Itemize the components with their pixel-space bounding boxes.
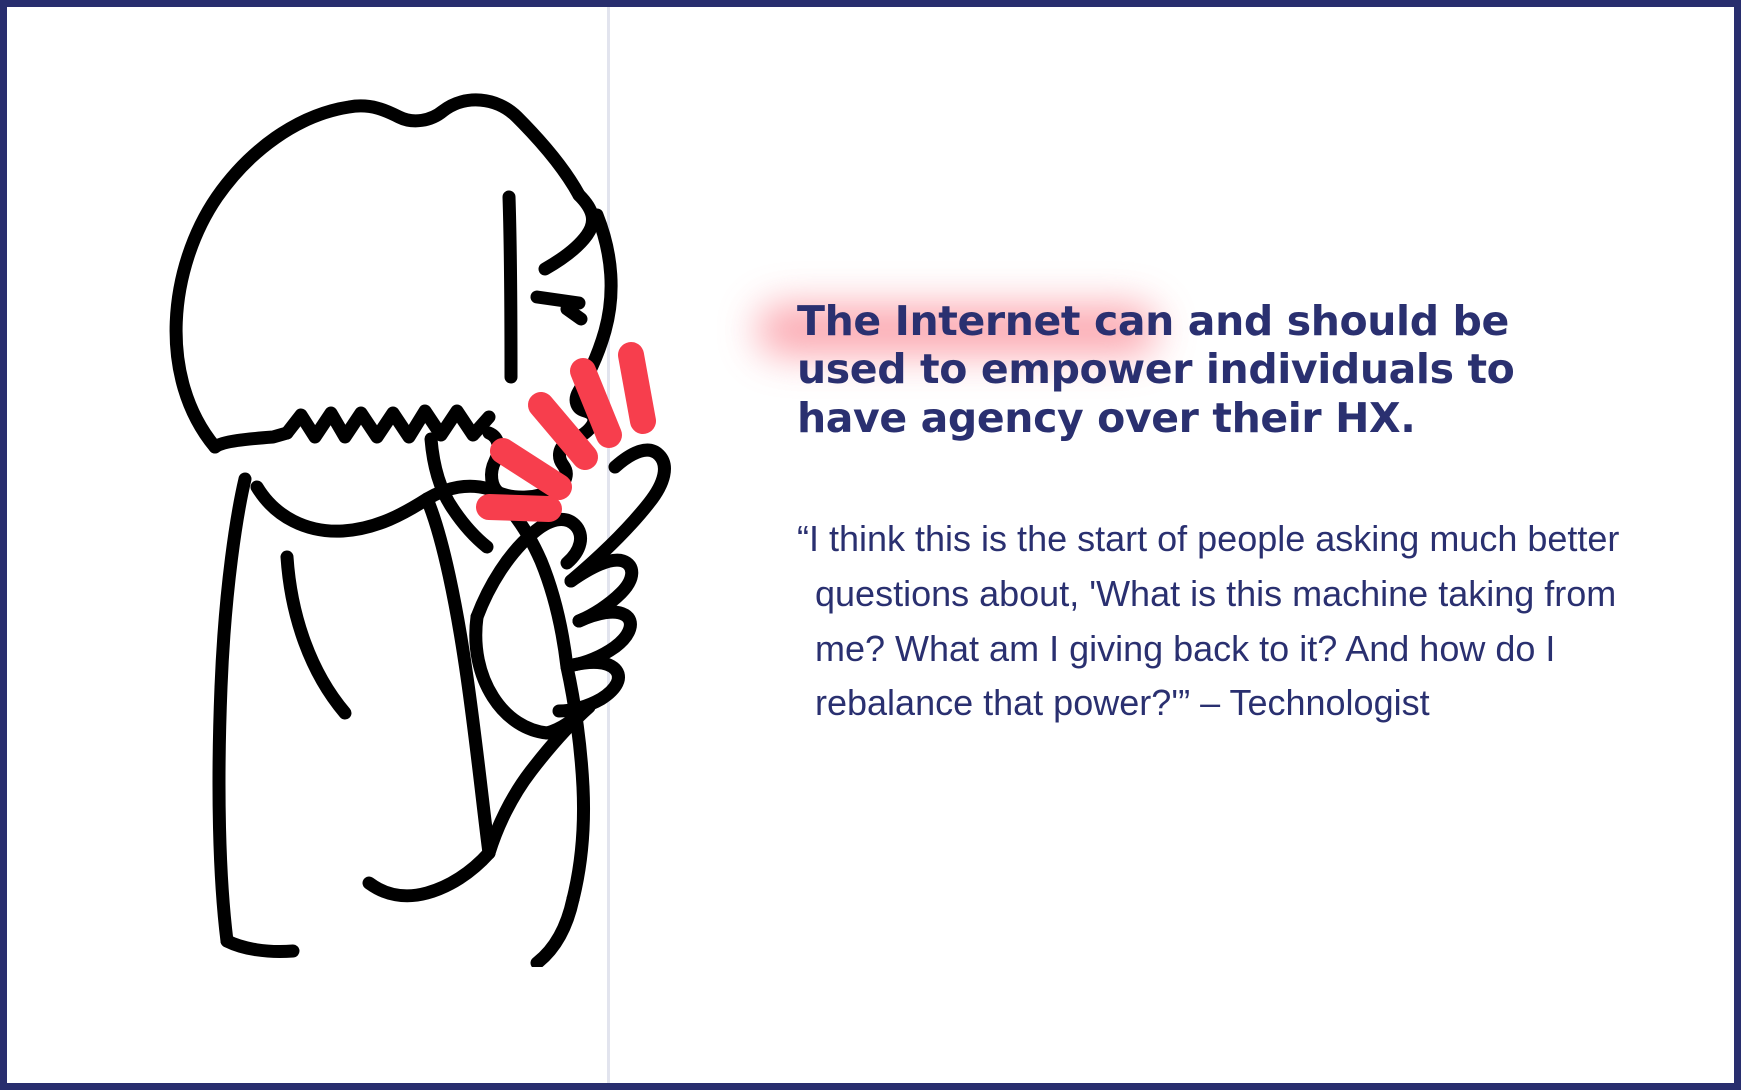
illustration-woman-with-phone: [97, 47, 717, 967]
headline-highlight-wrapper: The Internet can: [797, 297, 1174, 345]
palm-contour: [476, 617, 547, 733]
pull-quote: “I think this is the start of people ask…: [797, 512, 1627, 731]
hair-left-lower: [215, 433, 287, 447]
hair-strand-inner: [509, 197, 511, 377]
face-profile-upper: [545, 195, 593, 269]
waist-lower: [369, 853, 489, 896]
headline-highlight-text: The Internet can: [797, 297, 1174, 345]
headline: The Internet can and should be used to e…: [797, 297, 1627, 442]
ray-2: [503, 451, 559, 487]
hair-outline: [176, 100, 579, 447]
thumb: [477, 519, 581, 617]
eye: [537, 297, 579, 303]
text-content-column: The Internet can and should be used to e…: [797, 297, 1627, 731]
chest-contour: [287, 557, 345, 713]
eyelash: [567, 309, 581, 319]
ray-1: [489, 507, 549, 509]
hair-bottom-jagged: [287, 411, 489, 437]
shoulder-back: [219, 479, 245, 941]
ray-5: [631, 355, 643, 421]
slide-canvas: The Internet can and should be used to e…: [0, 0, 1741, 1090]
hip-contour: [537, 899, 573, 963]
torso-bottom: [227, 941, 293, 952]
